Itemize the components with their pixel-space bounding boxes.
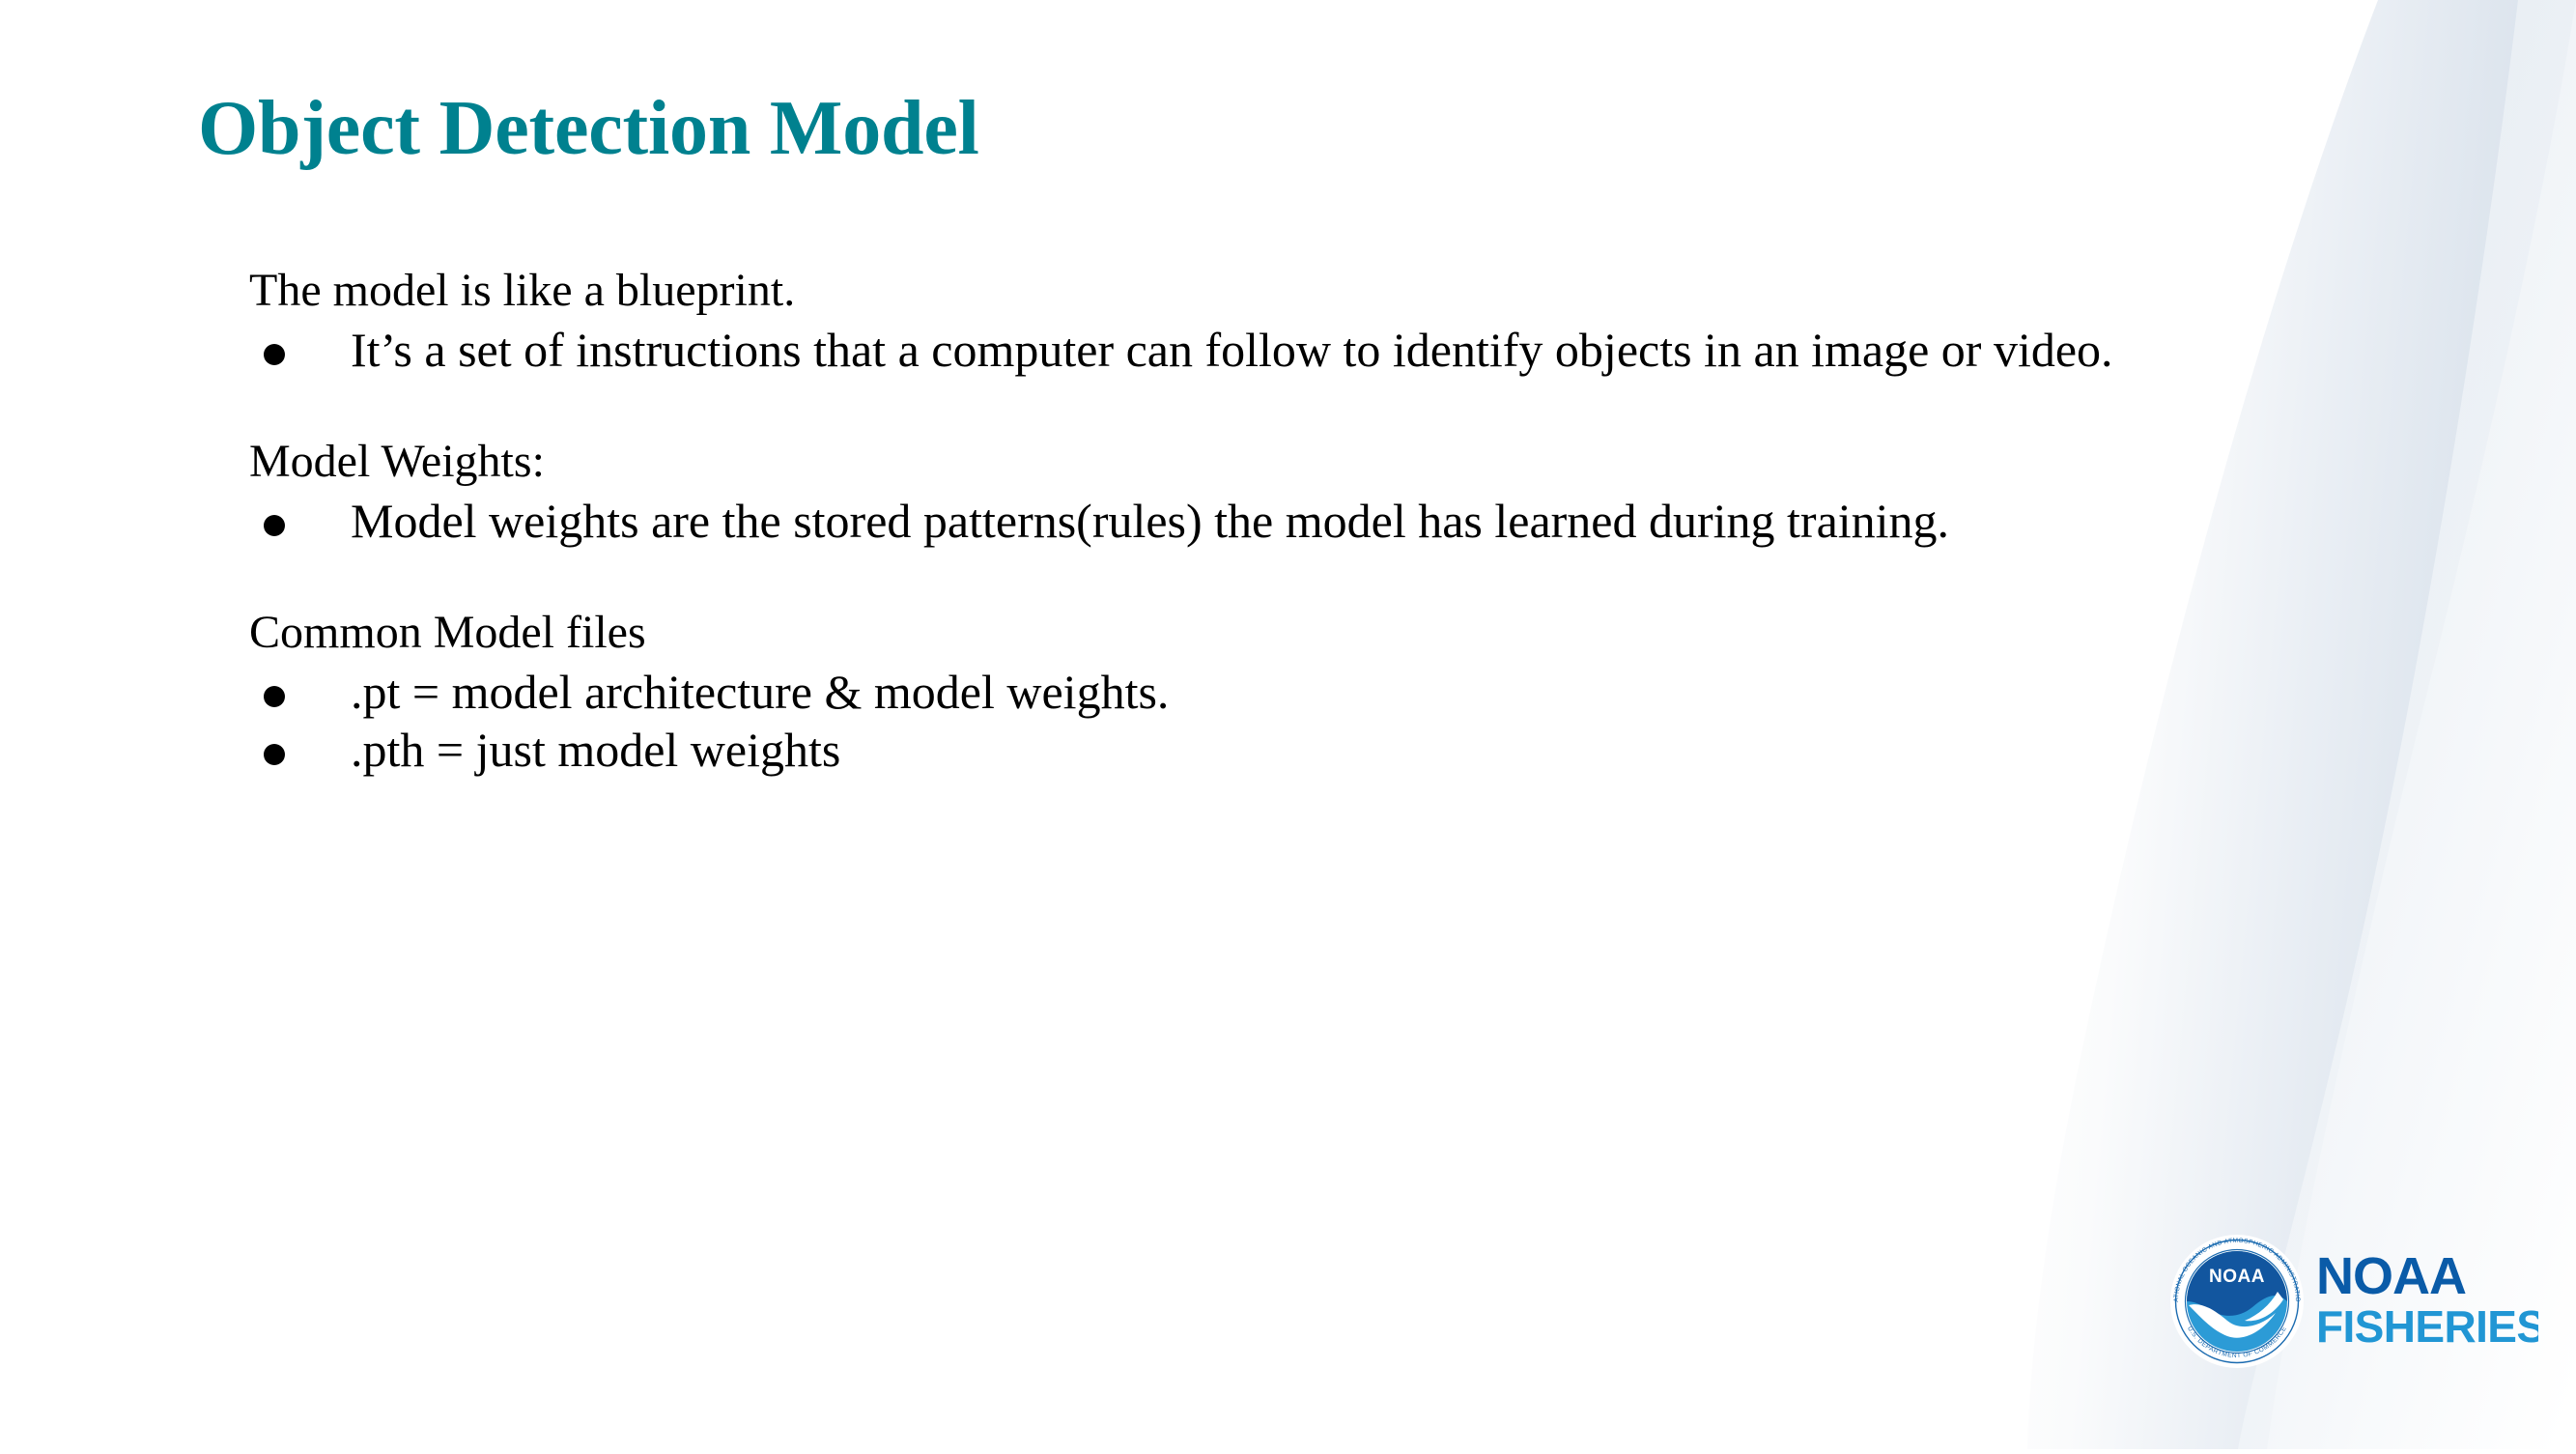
wordmark-fisheries-text: FISHERIES bbox=[2316, 1301, 2538, 1352]
bullet-list: .pt = model architecture & model weights… bbox=[249, 664, 2374, 779]
seal-emblem: NOAA bbox=[2169, 1234, 2305, 1369]
bullet-list: It’s a set of instructions that a comput… bbox=[249, 322, 2374, 379]
bullet-item: Model weights are the stored patterns(ru… bbox=[249, 493, 2321, 550]
bullet-text: It’s a set of instructions that a comput… bbox=[351, 323, 2113, 377]
noaa-seal-icon: NOAA NATIONAL OCEANIC AND ATMOSPHERIC AD… bbox=[2169, 1234, 2305, 1369]
bullet-point-icon bbox=[264, 344, 285, 365]
bullet-point-icon bbox=[264, 744, 285, 765]
bullet-item: .pt = model architecture & model weights… bbox=[249, 664, 2321, 721]
content-block-model-weights: Model Weights: Model weights are the sto… bbox=[249, 434, 2374, 549]
bullet-item: It’s a set of instructions that a comput… bbox=[249, 322, 2321, 379]
block-heading: Common Model files bbox=[249, 605, 2374, 662]
noaa-fisheries-logo: NOAA NATIONAL OCEANIC AND ATMOSPHERIC AD… bbox=[2169, 1229, 2546, 1374]
noaa-fisheries-wordmark: NOAA FISHERIES bbox=[2316, 1247, 2538, 1355]
bullet-point-icon bbox=[264, 515, 285, 536]
content-block-blueprint: The model is like a blueprint. It’s a se… bbox=[249, 263, 2374, 378]
content-block-common-model-files: Common Model files .pt = model architect… bbox=[249, 605, 2374, 779]
bullet-text: .pt = model architecture & model weights… bbox=[351, 665, 1169, 719]
slide-body: The model is like a blueprint. It’s a se… bbox=[249, 263, 2374, 781]
bullet-point-icon bbox=[264, 686, 285, 707]
wordmark-noaa-text: NOAA bbox=[2316, 1247, 2466, 1305]
bullet-text: .pth = just model weights bbox=[351, 723, 840, 777]
bullet-list: Model weights are the stored patterns(ru… bbox=[249, 493, 2374, 550]
block-heading: The model is like a blueprint. bbox=[249, 263, 2374, 320]
slide-title: Object Detection Model bbox=[198, 87, 979, 170]
bullet-item: .pth = just model weights bbox=[249, 722, 2321, 779]
block-heading: Model Weights: bbox=[249, 434, 2374, 491]
bullet-text: Model weights are the stored patterns(ru… bbox=[351, 494, 1949, 548]
seal-center-label: NOAA bbox=[2209, 1267, 2265, 1287]
